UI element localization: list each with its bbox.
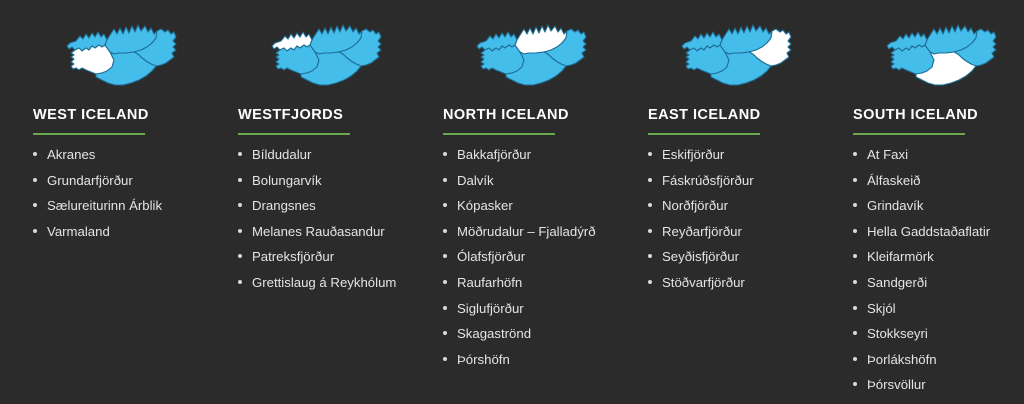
place-label: Ólafsfjörður bbox=[457, 249, 525, 264]
place-label: Skagaströnd bbox=[457, 326, 531, 341]
title-underline bbox=[238, 133, 350, 135]
region-column-westfjords: WESTFJORDSBíldudalurBolungarvíkDrangsnes… bbox=[205, 0, 410, 404]
place-label: Sandgerði bbox=[867, 275, 927, 290]
place-label: Siglufjörður bbox=[457, 301, 524, 316]
place-label: Skjól bbox=[867, 301, 896, 316]
bullet-dot-icon bbox=[238, 254, 242, 258]
title-underline bbox=[648, 133, 760, 135]
iceland-map-west-highlighted bbox=[62, 14, 184, 96]
place-list-west-iceland: AkranesGrundarfjörðurSælureiturinn Árbli… bbox=[33, 147, 205, 239]
list-item[interactable]: Eskifjörður bbox=[648, 147, 820, 162]
list-item[interactable]: Hella Gaddstaðaflatir bbox=[853, 224, 1024, 239]
title-underline bbox=[443, 133, 555, 135]
bullet-dot-icon bbox=[648, 254, 652, 258]
bullet-dot-icon bbox=[853, 203, 857, 207]
region-title-north-iceland: NORTH ICELAND bbox=[443, 106, 615, 124]
bullet-dot-icon bbox=[853, 306, 857, 310]
list-item[interactable]: Möðrudalur – Fjalladýrð bbox=[443, 224, 615, 239]
place-label: Drangsnes bbox=[252, 198, 316, 213]
place-label: Bíldudalur bbox=[252, 147, 311, 162]
bullet-dot-icon bbox=[853, 331, 857, 335]
bullet-dot-icon bbox=[443, 203, 447, 207]
place-list-south-iceland: At FaxiÁlfaskeiðGrindavíkHella Gaddstaða… bbox=[853, 147, 1024, 392]
place-label: Eskifjörður bbox=[662, 147, 724, 162]
place-label: Þórshöfn bbox=[457, 352, 510, 367]
bullet-dot-icon bbox=[853, 357, 857, 361]
list-item[interactable]: Skjól bbox=[853, 301, 1024, 316]
list-item[interactable]: Grettislaug á Reykhólum bbox=[238, 275, 410, 290]
bullet-dot-icon bbox=[853, 229, 857, 233]
list-item[interactable]: Drangsnes bbox=[238, 198, 410, 213]
list-item[interactable]: Ólafsfjörður bbox=[443, 249, 615, 264]
bullet-dot-icon bbox=[853, 280, 857, 284]
region-title-west-iceland: WEST ICELAND bbox=[33, 106, 205, 124]
list-item[interactable]: At Faxi bbox=[853, 147, 1024, 162]
iceland-regions-grid: WEST ICELANDAkranesGrundarfjörðurSælurei… bbox=[0, 0, 1024, 404]
list-item[interactable]: Álfaskeið bbox=[853, 173, 1024, 188]
list-item[interactable]: Bíldudalur bbox=[238, 147, 410, 162]
list-item[interactable]: Stokkseyri bbox=[853, 326, 1024, 341]
iceland-map-westfjords-highlighted bbox=[267, 14, 389, 96]
list-item[interactable]: Akranes bbox=[33, 147, 205, 162]
list-item[interactable]: Kleifarmörk bbox=[853, 249, 1024, 264]
place-label: Seyðisfjörður bbox=[662, 249, 739, 264]
bullet-dot-icon bbox=[443, 254, 447, 258]
bullet-dot-icon bbox=[443, 229, 447, 233]
list-item[interactable]: Patreksfjörður bbox=[238, 249, 410, 264]
bullet-dot-icon bbox=[238, 203, 242, 207]
list-item[interactable]: Melanes Rauðasandur bbox=[238, 224, 410, 239]
list-item[interactable]: Varmaland bbox=[33, 224, 205, 239]
bullet-dot-icon bbox=[648, 203, 652, 207]
iceland-map-east-highlighted bbox=[677, 14, 799, 96]
list-item[interactable]: Bolungarvík bbox=[238, 173, 410, 188]
bullet-dot-icon bbox=[443, 178, 447, 182]
bullet-dot-icon bbox=[853, 178, 857, 182]
place-label: Akranes bbox=[47, 147, 95, 162]
list-item[interactable]: Bakkafjörður bbox=[443, 147, 615, 162]
bullet-dot-icon bbox=[648, 280, 652, 284]
place-label: Kópasker bbox=[457, 198, 513, 213]
list-item[interactable]: Raufarhöfn bbox=[443, 275, 615, 290]
place-label: Stokkseyri bbox=[867, 326, 928, 341]
list-item[interactable]: Kópasker bbox=[443, 198, 615, 213]
place-label: Þorlákshöfn bbox=[867, 352, 937, 367]
region-column-west-iceland: WEST ICELANDAkranesGrundarfjörðurSælurei… bbox=[0, 0, 205, 404]
place-label: Grettislaug á Reykhólum bbox=[252, 275, 396, 290]
place-label: Grindavík bbox=[867, 198, 923, 213]
list-item[interactable]: Fáskrúðsfjörður bbox=[648, 173, 820, 188]
place-label: Álfaskeið bbox=[867, 173, 921, 188]
bullet-dot-icon bbox=[853, 152, 857, 156]
list-item[interactable]: Stöðvarfjörður bbox=[648, 275, 820, 290]
list-item[interactable]: Þórshöfn bbox=[443, 352, 615, 367]
bullet-dot-icon bbox=[443, 357, 447, 361]
place-label: At Faxi bbox=[867, 147, 908, 162]
bullet-dot-icon bbox=[648, 152, 652, 156]
list-item[interactable]: Þórsvöllur bbox=[853, 377, 1024, 392]
bullet-dot-icon bbox=[33, 203, 37, 207]
bullet-dot-icon bbox=[443, 306, 447, 310]
bullet-dot-icon bbox=[853, 382, 857, 386]
region-column-east-iceland: EAST ICELANDEskifjörðurFáskrúðsfjörðurNo… bbox=[615, 0, 820, 404]
place-label: Raufarhöfn bbox=[457, 275, 522, 290]
iceland-map-north-highlighted bbox=[472, 14, 594, 96]
bullet-dot-icon bbox=[238, 178, 242, 182]
place-list-north-iceland: BakkafjörðurDalvíkKópaskerMöðrudalur – F… bbox=[443, 147, 615, 367]
list-item[interactable]: Sælureiturinn Árblik bbox=[33, 198, 205, 213]
bullet-dot-icon bbox=[443, 331, 447, 335]
region-column-south-iceland: SOUTH ICELANDAt FaxiÁlfaskeiðGrindavíkHe… bbox=[820, 0, 1024, 404]
bullet-dot-icon bbox=[648, 178, 652, 182]
list-item[interactable]: Grindavík bbox=[853, 198, 1024, 213]
place-list-east-iceland: EskifjörðurFáskrúðsfjörðurNorðfjörðurRey… bbox=[648, 147, 820, 290]
region-column-north-iceland: NORTH ICELANDBakkafjörðurDalvíkKópaskerM… bbox=[410, 0, 615, 404]
list-item[interactable]: Dalvík bbox=[443, 173, 615, 188]
place-label: Kleifarmörk bbox=[867, 249, 934, 264]
bullet-dot-icon bbox=[238, 152, 242, 156]
place-list-westfjords: BíldudalurBolungarvíkDrangsnesMelanes Ra… bbox=[238, 147, 410, 290]
list-item[interactable]: Skagaströnd bbox=[443, 326, 615, 341]
list-item[interactable]: Reyðarfjörður bbox=[648, 224, 820, 239]
place-label: Möðrudalur – Fjalladýrð bbox=[457, 224, 596, 239]
bullet-dot-icon bbox=[443, 152, 447, 156]
place-label: Stöðvarfjörður bbox=[662, 275, 745, 290]
region-title-south-iceland: SOUTH ICELAND bbox=[853, 106, 1024, 124]
iceland-map-south-highlighted bbox=[882, 14, 1004, 96]
title-underline bbox=[853, 133, 965, 135]
list-item[interactable]: Sandgerði bbox=[853, 275, 1024, 290]
place-label: Reyðarfjörður bbox=[662, 224, 742, 239]
list-item[interactable]: Þorlákshöfn bbox=[853, 352, 1024, 367]
list-item[interactable]: Norðfjörður bbox=[648, 198, 820, 213]
bullet-dot-icon bbox=[33, 229, 37, 233]
bullet-dot-icon bbox=[33, 178, 37, 182]
region-title-east-iceland: EAST ICELAND bbox=[648, 106, 820, 124]
list-item[interactable]: Grundarfjörður bbox=[33, 173, 205, 188]
place-label: Hella Gaddstaðaflatir bbox=[867, 224, 990, 239]
place-label: Bakkafjörður bbox=[457, 147, 531, 162]
place-label: Bolungarvík bbox=[252, 173, 322, 188]
place-label: Norðfjörður bbox=[662, 198, 728, 213]
place-label: Dalvík bbox=[457, 173, 494, 188]
list-item[interactable]: Siglufjörður bbox=[443, 301, 615, 316]
region-title-westfjords: WESTFJORDS bbox=[238, 106, 410, 124]
place-label: Sælureiturinn Árblik bbox=[47, 198, 162, 213]
place-label: Þórsvöllur bbox=[867, 377, 926, 392]
place-label: Grundarfjörður bbox=[47, 173, 133, 188]
bullet-dot-icon bbox=[238, 229, 242, 233]
place-label: Fáskrúðsfjörður bbox=[662, 173, 754, 188]
place-label: Patreksfjörður bbox=[252, 249, 334, 264]
place-label: Varmaland bbox=[47, 224, 110, 239]
place-label: Melanes Rauðasandur bbox=[252, 224, 385, 239]
bullet-dot-icon bbox=[443, 280, 447, 284]
bullet-dot-icon bbox=[853, 254, 857, 258]
bullet-dot-icon bbox=[648, 229, 652, 233]
title-underline bbox=[33, 133, 145, 135]
list-item[interactable]: Seyðisfjörður bbox=[648, 249, 820, 264]
bullet-dot-icon bbox=[238, 280, 242, 284]
bullet-dot-icon bbox=[33, 152, 37, 156]
